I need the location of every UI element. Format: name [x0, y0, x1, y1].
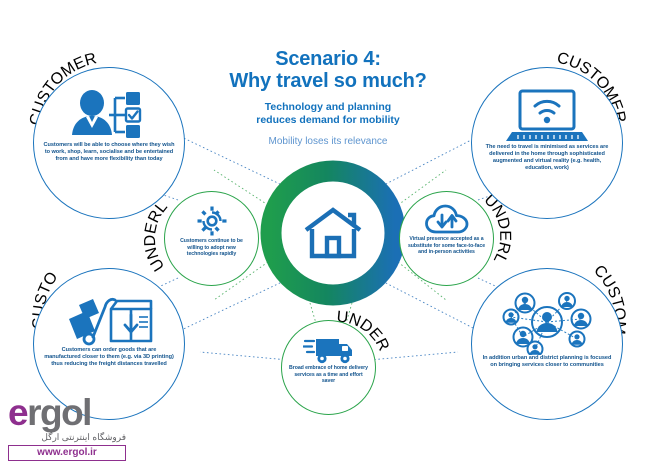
node-top-left[interactable]: Customers will be able to choose where t…: [33, 67, 185, 219]
cloud-upload-download-icon: [425, 204, 469, 236]
node-bottom[interactable]: Broad embrace of home delivery services …: [281, 320, 376, 415]
node-caption: Customers can order goods that are manuf…: [34, 347, 184, 368]
house-icon: [259, 159, 407, 307]
laptop-wifi-icon: [504, 88, 590, 144]
title-block: Scenario 4: Why travel so much? Technolo…: [188, 48, 468, 148]
subtitle-line2: reduces demand for mobility: [188, 114, 468, 127]
subtitle-line1: Technology and planning: [188, 101, 468, 114]
person-checklist-icon: [65, 90, 153, 142]
node-caption: The need to travel is minimised as servi…: [472, 144, 622, 172]
node-top-right[interactable]: The need to travel is minimised as servi…: [471, 67, 623, 219]
node-caption: Customers will be able to choose where t…: [34, 142, 184, 163]
ergol-letter-e: e: [8, 392, 27, 433]
hub-center: [259, 159, 407, 307]
node-caption: In addition urban and district planning …: [472, 355, 622, 369]
ergol-watermark[interactable]: ergol فروشگاه اینترنتی ارگل www.ergol.ir: [8, 396, 183, 461]
node-caption: Customers continue to be willing to adop…: [165, 238, 258, 258]
gear-settings-icon: [195, 204, 229, 238]
page-title-line1: Scenario 4:: [188, 48, 468, 70]
node-left[interactable]: Customers continue to be willing to adop…: [164, 191, 259, 286]
node-caption: Broad embrace of home delivery services …: [282, 365, 375, 385]
delivery-box-trolley-icon: [63, 291, 155, 347]
ergol-url[interactable]: www.ergol.ir: [8, 445, 126, 461]
ergol-wordmark: ergol: [8, 396, 183, 430]
tagline: Mobility loses its relevance: [188, 136, 468, 148]
node-caption: Virtual presence accepted as a substitut…: [400, 236, 493, 256]
ergol-letters-rest: rgol: [27, 392, 91, 433]
delivery-truck-icon: [303, 333, 355, 365]
node-right[interactable]: Virtual presence accepted as a substitut…: [399, 191, 494, 286]
node-br[interactable]: In addition urban and district planning …: [471, 268, 623, 420]
page-title-line2: Why travel so much?: [188, 70, 468, 92]
infographic-canvas: CUSTOMER EXPERIENCE CUSTOMER EXPERIENCE …: [0, 0, 656, 457]
people-network-icon: [495, 289, 599, 355]
